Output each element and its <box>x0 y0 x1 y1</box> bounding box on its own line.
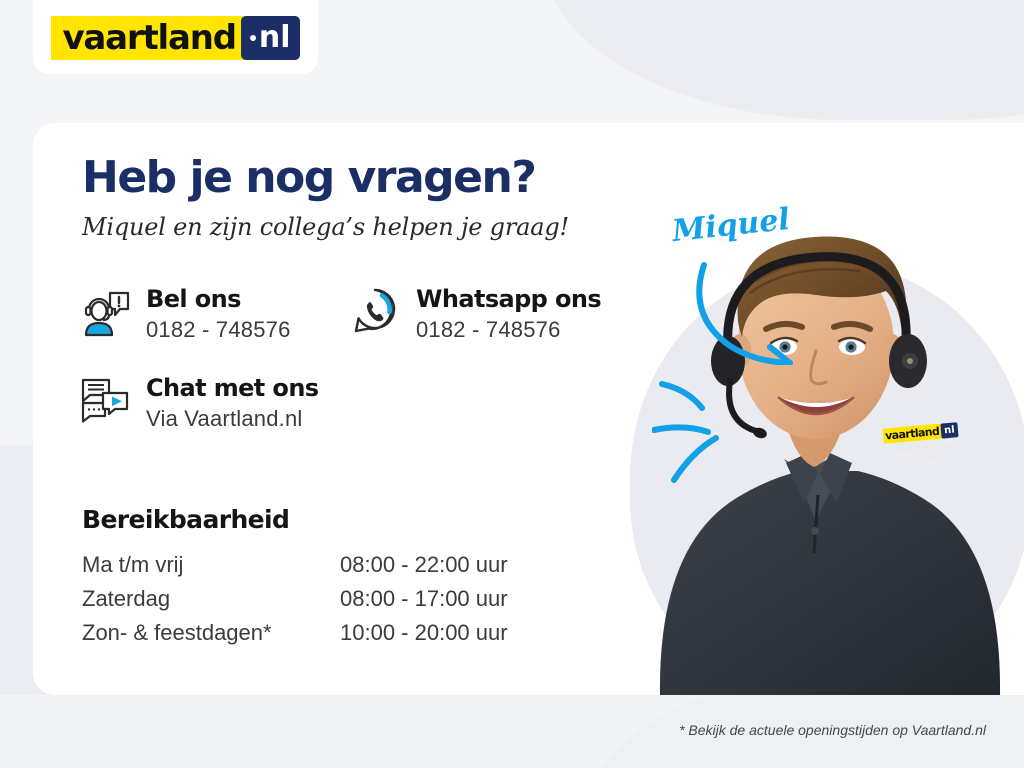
vaartland-logo[interactable]: vaartland nl <box>51 16 299 60</box>
whatsapp-icon <box>348 283 402 339</box>
logo-card: vaartland nl <box>33 0 318 74</box>
table-row: Zon- & feestdagen* 10:00 - 20:00 uur <box>82 616 508 650</box>
polo-logo-badge: vaartland nl doe jezelf een plezier <box>883 421 970 465</box>
headset-person-icon <box>78 283 132 339</box>
contact-value-phone: 0182 - 748576 <box>146 314 291 345</box>
contact-block-phone[interactable]: Bel ons 0182 - 748576 <box>78 283 291 345</box>
hours-heading: Bereikbaarheid <box>82 505 289 534</box>
contact-title-whatsapp: Whatsapp ons <box>416 284 601 314</box>
contact-title-chat: Chat met ons <box>146 373 319 403</box>
pointer-arrow-icon <box>690 255 805 365</box>
polo-logo-nl: nl <box>941 422 959 438</box>
logo-dot-icon <box>250 35 256 41</box>
logo-wordmark: vaartland <box>51 16 244 60</box>
background-shape-top-right <box>545 0 1024 120</box>
chat-bubbles-icon <box>78 372 132 428</box>
logo-nl-badge: nl <box>241 16 300 60</box>
promo-banner: vaartland nl Heb je nog vragen? Miquel e… <box>0 0 1024 768</box>
contact-text-chat: Chat met ons Via Vaartland.nl <box>146 372 319 434</box>
contact-block-chat[interactable]: Chat met ons Via Vaartland.nl <box>78 372 319 434</box>
hours-table: Ma t/m vrij 08:00 - 22:00 uur Zaterdag 0… <box>82 548 508 650</box>
contact-value-whatsapp: 0182 - 748576 <box>416 314 601 345</box>
contact-block-whatsapp[interactable]: Whatsapp ons 0182 - 748576 <box>348 283 601 345</box>
logo-nl-text: nl <box>259 16 291 60</box>
hours-time: 08:00 - 17:00 uur <box>340 582 508 616</box>
hours-day: Zon- & feestdagen* <box>82 616 340 650</box>
hours-time: 10:00 - 20:00 uur <box>340 616 508 650</box>
hours-day: Ma t/m vrij <box>82 548 340 582</box>
page-subtitle: Miquel en zijn collega’s helpen je graag… <box>82 213 569 241</box>
table-row: Zaterdag 08:00 - 17:00 uur <box>82 582 508 616</box>
contact-text-whatsapp: Whatsapp ons 0182 - 748576 <box>416 283 601 345</box>
footnote-text: * Bekijk de actuele openingstijden op Va… <box>679 722 986 738</box>
contact-title-phone: Bel ons <box>146 284 291 314</box>
table-row: Ma t/m vrij 08:00 - 22:00 uur <box>82 548 508 582</box>
hours-day: Zaterdag <box>82 582 340 616</box>
contact-text-phone: Bel ons 0182 - 748576 <box>146 283 291 345</box>
contact-value-chat: Via Vaartland.nl <box>146 403 319 434</box>
page-title: Heb je nog vragen? <box>82 152 535 203</box>
hours-time: 08:00 - 22:00 uur <box>340 548 508 582</box>
accent-dashes-icon <box>652 368 742 488</box>
